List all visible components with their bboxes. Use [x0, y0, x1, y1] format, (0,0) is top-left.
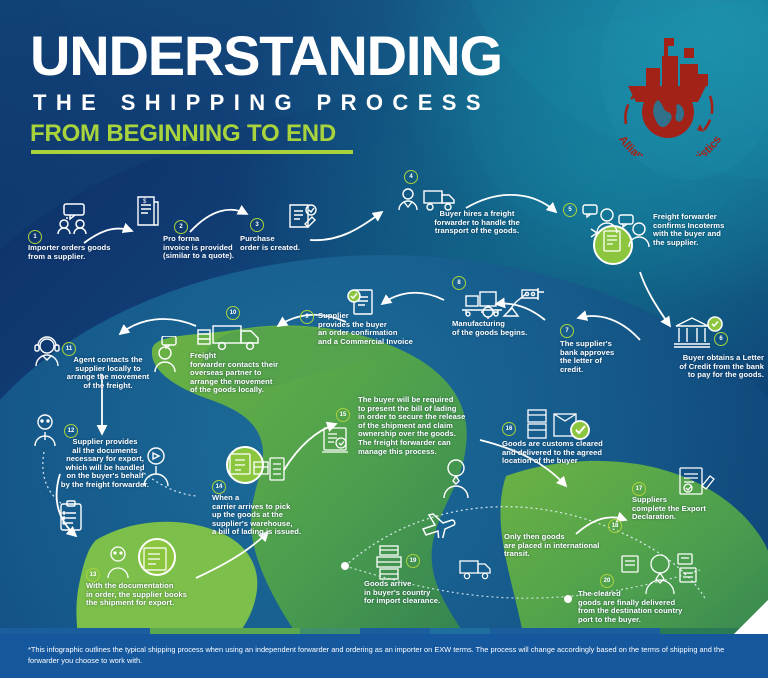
- step-badge-10: 10: [226, 306, 240, 320]
- step-text-10: Freight forwarder contacts their oversea…: [190, 352, 316, 395]
- page-title: UNDERSTANDING: [30, 28, 502, 84]
- step-14: 14 When a carrier arrives to pick up the…: [212, 492, 352, 537]
- tagline-underline: [31, 150, 353, 154]
- step-1: 1 Importer orders goods from a supplier.: [28, 230, 152, 261]
- bill-of-lading-icon: [320, 424, 350, 456]
- step-5: 5 Freight forwarder confirms Incoterms w…: [563, 203, 671, 247]
- step-badge-19: 19: [406, 554, 420, 568]
- step-4: 4 Buyer hires a freight forwarder to han…: [390, 212, 520, 236]
- step-badge-13: 13: [86, 568, 100, 582]
- final-delivery-icon: [620, 552, 702, 594]
- step-2: $ 2 Pro forma invoice is provided (simil…: [135, 226, 253, 261]
- footer-note: *This infographic outlines the typical s…: [28, 644, 744, 666]
- people-chat-icon: [50, 202, 98, 234]
- step-11: 11 Agent contacts the supplier locally t…: [30, 356, 152, 390]
- step-badge-18: 18: [608, 519, 622, 533]
- svg-text:$: $: [143, 199, 147, 205]
- alliance-bolt-logistics-logo: Alliance Bolt Logistics: [600, 26, 740, 156]
- page-tagline: FROM BEGINNING TO END: [30, 120, 336, 148]
- headset-agent-icon: [30, 334, 64, 368]
- person-tie-deco-icon: [440, 456, 472, 498]
- step-badge-15: 15: [336, 408, 350, 422]
- route-truck-icon: [458, 558, 498, 580]
- ship-globe-icon: Alliance Bolt Logistics: [600, 26, 740, 156]
- step-badge-5: 5: [563, 203, 577, 217]
- step-badge-17: 17: [632, 482, 646, 496]
- export-declaration-icon: [676, 466, 716, 502]
- footer-disclaimer-bar: *This infographic outlines the typical s…: [0, 634, 768, 678]
- clipboard-checklist-icon: [58, 500, 84, 532]
- step-text-6: Buyer obtains a Letter of Credit from th…: [660, 354, 764, 380]
- step-3: 3 Purchase order is created.: [240, 228, 336, 252]
- step-text-5: Freight forwarder confirms Incoterms wit…: [653, 213, 753, 247]
- delivery-truck-icon: [196, 320, 266, 352]
- step-badge-14: 14: [212, 480, 226, 494]
- step-badge-4: 4: [404, 170, 418, 184]
- step-badge-9: 9: [300, 310, 314, 324]
- step-badge-20: 20: [600, 574, 614, 588]
- step-9: 9 Supplier provides the buyer an order c…: [300, 310, 444, 346]
- airplane-transit-icon: [420, 510, 460, 538]
- factory-robot-icon: [460, 286, 556, 320]
- step-text-18: Only then goods are placed in internatio…: [504, 533, 634, 559]
- step-text-7: The supplier's bank approves the letter …: [560, 340, 644, 374]
- step-17: 17 Suppliers complete the Export Declara…: [632, 484, 752, 522]
- step-text-13: With the documentation in order, the sup…: [86, 582, 246, 608]
- step-19: 19 Goods arrive in buyer's country for i…: [364, 578, 490, 606]
- step-text-8: Manufacturing of the goods begins.: [452, 320, 556, 337]
- step-text-16: Goods are customs cleared and delivered …: [502, 440, 654, 466]
- step-badge-16: 16: [502, 422, 516, 436]
- step-text-19: Goods arrive in buyer's country for impo…: [364, 580, 490, 606]
- step-badge-2: 2: [174, 220, 188, 234]
- step-15: 15 The buyer will be required to present…: [322, 424, 486, 456]
- step-text-9: Supplier provides the buyer an order con…: [318, 312, 444, 346]
- customs-cleared-icon: [524, 406, 600, 442]
- crates-arrival-icon: [374, 544, 406, 582]
- person-chat-deco-icon: [150, 336, 180, 374]
- step-text-3: Purchase order is created.: [240, 235, 336, 252]
- step-13: 13 With the documentation in order, the …: [86, 580, 246, 608]
- step-text-1: Importer orders goods from a supplier.: [28, 244, 152, 261]
- poster-header: UNDERSTANDING THE SHIPPING PROCESS FROM …: [0, 0, 768, 170]
- step-10: 10 Freight forwarder contacts their over…: [190, 346, 316, 395]
- step-8: 8 Manufacturing of the goods begins.: [452, 316, 556, 337]
- booking-person-icon: [102, 542, 180, 578]
- step-6: 6 Buyer obtains a Letter of Credit from …: [660, 348, 768, 380]
- step-7: 7 The supplier's bank approves the lette…: [560, 336, 644, 374]
- three-people-chat-icon: [577, 203, 663, 263]
- step-18: 18 Only then goods are placed in interna…: [504, 533, 634, 559]
- step-text-11: Agent contacts the supplier locally to a…: [64, 356, 152, 390]
- confirmation-doc-icon: [344, 288, 380, 316]
- step-badge-6: 6: [714, 332, 728, 346]
- step-text-14: When a carrier arrives to pick up the go…: [212, 494, 352, 537]
- supplier-person-icon: [30, 412, 60, 446]
- infographic-poster: UNDERSTANDING THE SHIPPING PROCESS FROM …: [0, 0, 768, 678]
- step-20: 20 The cleared goods are finally deliver…: [578, 588, 728, 624]
- step-badge-7: 7: [560, 324, 574, 338]
- step-badge-12: 12: [64, 424, 78, 438]
- step-text-20: The cleared goods are finally delivered …: [578, 590, 728, 624]
- step-badge-1: 1: [28, 230, 42, 244]
- step-badge-8: 8: [452, 276, 466, 290]
- step-badge-11: 11: [62, 342, 76, 356]
- agent-truck-icon: [394, 186, 460, 216]
- purchase-order-icon: [286, 202, 320, 232]
- page-subtitle: THE SHIPPING PROCESS: [33, 90, 490, 116]
- step-16: 16 Goods are customs cleared and deliver…: [502, 438, 654, 466]
- person-play-deco-icon: [140, 444, 172, 486]
- invoice-document-icon: $: [135, 194, 161, 228]
- step-badge-3: 3: [250, 218, 264, 232]
